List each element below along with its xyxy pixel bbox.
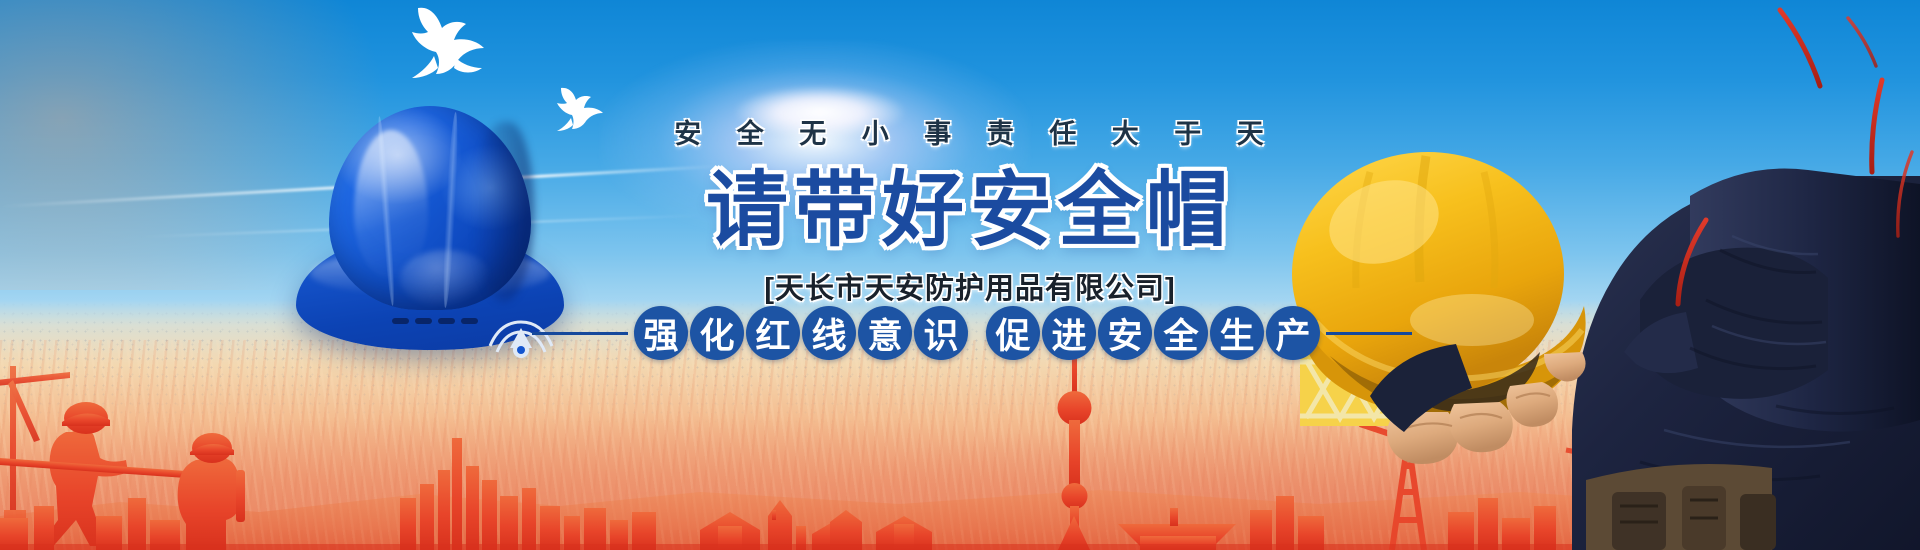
slogan-right-chips: 促 进 安 全 生 产 bbox=[986, 306, 1320, 360]
dove-icon bbox=[404, 6, 494, 88]
tool-belt bbox=[1586, 464, 1776, 550]
tagline-text: 安 全 无 小 事 责 任 大 于 天 bbox=[612, 112, 1340, 151]
slogan-chip: 进 bbox=[1042, 306, 1096, 360]
slogan-chip: 红 bbox=[746, 306, 800, 360]
page-title: 请带好安全帽 bbox=[600, 169, 1340, 253]
headline-block: 安 全 无 小 事 责 任 大 于 天 请带好安全帽 [天长市天安防护用品有限公… bbox=[600, 112, 1340, 307]
company-name: [天长市天安防护用品有限公司] bbox=[600, 265, 1340, 307]
slogan-rule-left bbox=[532, 332, 628, 335]
slogan-row: 强 化 红 线 意 识 促 进 安 全 生 产 bbox=[532, 306, 1412, 360]
slogan-chip: 强 bbox=[634, 306, 688, 360]
helmet-vents bbox=[392, 316, 478, 326]
slogan-chip: 生 bbox=[1210, 306, 1264, 360]
slogan-chip: 识 bbox=[914, 306, 968, 360]
slogan-chip: 意 bbox=[858, 306, 912, 360]
hard-hat-icon bbox=[296, 100, 564, 352]
slogan-chip: 线 bbox=[802, 306, 856, 360]
slogan-chip: 全 bbox=[1154, 306, 1208, 360]
slogan-left-chips: 强 化 红 线 意 识 bbox=[634, 306, 968, 360]
slogan-divider bbox=[968, 333, 986, 334]
slogan-chip: 化 bbox=[690, 306, 744, 360]
slogan-chip: 安 bbox=[1098, 306, 1152, 360]
slogan-chip: 产 bbox=[1266, 306, 1320, 360]
safety-poster-banner: 安 全 无 小 事 责 任 大 于 天 请带好安全帽 [天长市天安防护用品有限公… bbox=[0, 0, 1920, 550]
slogan-rule-right bbox=[1326, 332, 1412, 335]
slogan-chip: 促 bbox=[986, 306, 1040, 360]
helmet-gloss-secondary bbox=[400, 250, 492, 308]
